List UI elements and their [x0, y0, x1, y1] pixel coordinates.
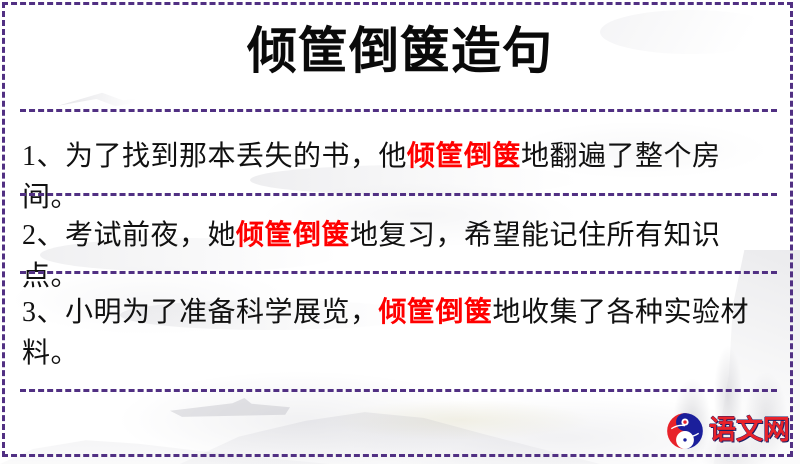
site-logo[interactable]: 语文网 — [666, 410, 790, 452]
sentence-item-2: 2、考试前夜，她倾筐倒箧地复习，希望能记住所有知识点。 — [22, 215, 772, 297]
sentence-1-keyword: 倾筐倒箧 — [407, 141, 521, 172]
divider-after-sentence-2 — [20, 271, 777, 274]
divider-after-sentence-1 — [20, 193, 777, 196]
sentence-3-text-before: 3、小明为了准备科学展览， — [22, 297, 379, 328]
sentence-3-keyword: 倾筐倒箧 — [379, 297, 493, 328]
divider-after-sentence-3 — [20, 389, 777, 392]
divider-below-title — [20, 109, 777, 112]
sentence-1-text-before: 1、为了找到那本丢失的书，他 — [22, 141, 407, 172]
sentence-item-1: 1、为了找到那本丢失的书，他倾筐倒箧地翻遍了整个房间。 — [22, 136, 772, 218]
sentence-item-3: 3、小明为了准备科学展览，倾筐倒箧地收集了各种实验材料。 — [22, 292, 772, 374]
sentence-2-keyword: 倾筐倒箧 — [236, 220, 350, 251]
content-area: 倾筐倒箧造句 1、为了找到那本丢失的书，他倾筐倒箧地翻遍了整个房间。 2、考试前… — [0, 0, 800, 464]
logo-text: 语文网 — [709, 416, 790, 446]
page-root: 倾筐倒箧造句 1、为了找到那本丢失的书，他倾筐倒箧地翻遍了整个房间。 2、考试前… — [0, 0, 800, 464]
page-title: 倾筐倒箧造句 — [0, 20, 800, 82]
taiji-logo-icon — [666, 412, 704, 450]
sentence-2-text-before: 2、考试前夜，她 — [22, 220, 236, 251]
